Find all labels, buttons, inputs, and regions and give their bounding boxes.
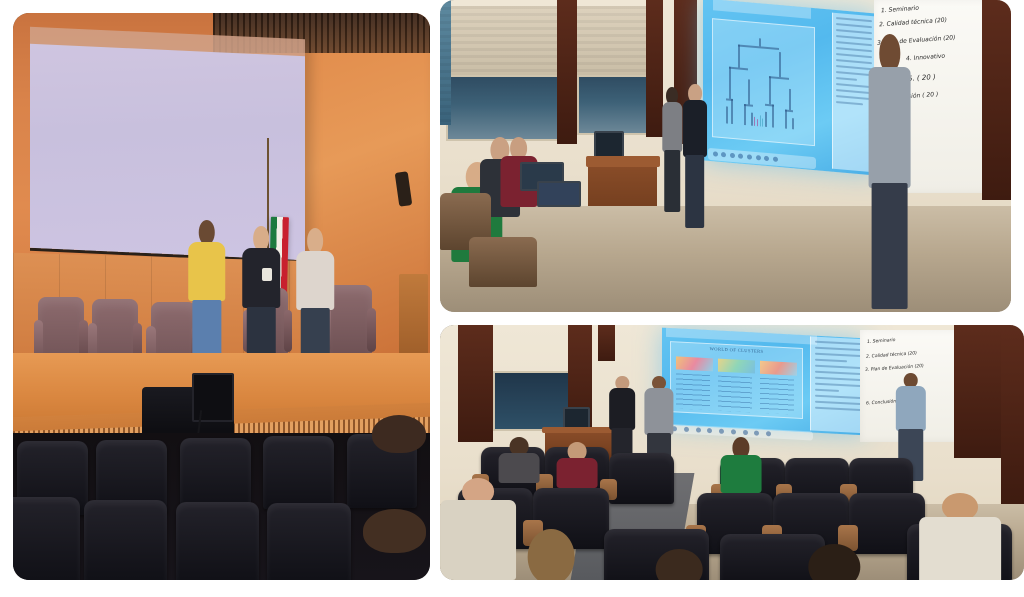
lecture-hall-seat [609,453,673,504]
wall-column [458,325,493,442]
audience-person-head [372,415,426,453]
slide-legend-column [718,375,752,412]
door-frame [982,0,1011,200]
audience-head-foreground [522,529,580,580]
audience-person-head [363,509,426,553]
audience-front-cream-shirt [440,478,516,580]
whiteboard-line: 4. Innovativo [906,53,946,63]
classroom-scene: 1. Seminario 2. Calidad técnica (20) 3. … [440,0,1011,312]
slide-legend-column [760,377,794,414]
document-side-pane [810,336,864,433]
audience-seating [13,433,430,580]
window [493,371,573,431]
dendrogram-plot [711,19,814,147]
whiteboard-line: 2. Calidad técnica (20) [866,351,917,360]
classroom-seat [469,237,538,287]
auditorium-scene [13,13,430,580]
door-frame [954,325,1001,458]
presenter-with-microphone [188,220,226,367]
slide-map-thumb [676,356,713,372]
name-badge [262,268,272,282]
whiteboard-line: 1. Seminario [867,338,896,345]
wall-column [557,0,577,144]
wall-column [646,0,663,137]
audience-head-foreground [802,544,866,580]
wall-column [598,325,616,361]
head [528,529,575,580]
torso [663,102,682,152]
audience-green-shirt [720,437,761,493]
torso [609,388,635,431]
legs [685,155,705,228]
torso [683,100,707,157]
audience-right-cream-shirt [919,493,1001,580]
student-standing-dark-jacket [683,84,707,228]
podium [399,274,428,365]
projected-slide-dendrogram [703,0,877,176]
window [577,75,650,135]
legs [871,183,908,309]
slide-title: WORLD OF CLUSTERS [671,344,802,356]
torso [896,386,926,431]
torso [498,453,539,483]
auditorium-seat [84,500,167,580]
auditorium-seat [176,502,259,580]
whiteboard-line: 1. Seminario [881,4,919,14]
torso [919,517,1001,580]
whiteboard-line: 3. Plan de Evaluación (20) [865,364,924,373]
torso [297,251,335,310]
auditorium-seat [263,436,334,510]
slide-body: WORLD OF CLUSTERS [670,340,803,419]
window [446,75,564,141]
legs [665,150,681,212]
torso [868,67,911,188]
torso [188,242,226,301]
torso [720,455,761,493]
slide-map-thumb [718,358,755,374]
window-blind [446,6,560,75]
lectern-top [586,156,660,167]
instructor-standing-right [868,34,911,309]
photo-panel-auditorium [13,13,430,580]
student-standing-grey [663,87,682,212]
torso [440,500,516,580]
torso [557,458,598,488]
auditorium-seat [13,497,80,580]
wall-column [1001,325,1024,504]
audience-head-foreground [650,549,708,580]
student-laptop [537,181,581,207]
slide-map-thumb [760,360,797,376]
photo-collage: 1. Seminario 2. Calidad técnica (20) 3. … [0,0,1024,597]
slide-legend-column [676,373,710,410]
window-blind [440,0,451,125]
audience-seated-left [557,442,598,488]
lecture-hall-scene: WORLD OF CLUSTERS [440,325,1024,580]
whiteboard-line: 5. ( 20 ) [908,73,936,83]
head [656,549,703,580]
projected-slide-world-map: WORLD OF CLUSTERS [662,327,866,435]
photo-panel-lecture-hall: WORLD OF CLUSTERS [440,325,1024,580]
photo-panel-classroom-dendrogram: 1. Seminario 2. Calidad técnica (20) 3. … [440,0,1011,312]
window-blind [577,6,646,75]
auditorium-seat [267,503,350,580]
dendrogram-tree [718,27,807,131]
audience-seated-left [498,437,539,483]
head [809,544,860,580]
whiteboard-line: 2. Calidad técnica (20) [878,17,946,29]
torso [644,388,673,435]
